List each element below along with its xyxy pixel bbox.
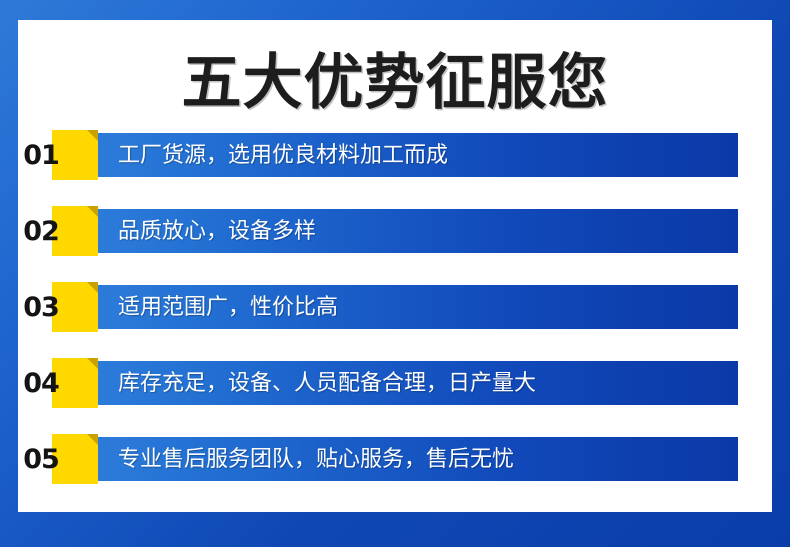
badge-number-label: 05 — [18, 434, 64, 484]
fold-corner-icon — [87, 130, 98, 141]
advantage-text: 品质放心，设备多样 — [118, 209, 316, 253]
badge-number-label: 04 — [18, 358, 64, 408]
advantages-poster: 五大优势征服您 01 工厂货源，选用优良材料加工而成 02 品质放心，设备多样 — [0, 0, 790, 547]
advantage-text: 专业售后服务团队，贴心服务，售后无忧 — [118, 437, 514, 481]
list-item: 01 工厂货源，选用优良材料加工而成 — [18, 130, 772, 180]
badge-number-label: 02 — [18, 206, 64, 256]
advantage-text: 适用范围广，性价比高 — [118, 285, 338, 329]
list-item: 03 适用范围广，性价比高 — [18, 282, 772, 332]
fold-corner-icon — [87, 358, 98, 369]
badge-number-label: 03 — [18, 282, 64, 332]
advantage-bar: 库存充足，设备、人员配备合理，日产量大 — [95, 361, 738, 405]
advantage-bar: 工厂货源，选用优良材料加工而成 — [95, 133, 738, 177]
advantage-bar: 专业售后服务团队，贴心服务，售后无忧 — [95, 437, 738, 481]
list-item: 02 品质放心，设备多样 — [18, 206, 772, 256]
list-item: 04 库存充足，设备、人员配备合理，日产量大 — [18, 358, 772, 408]
advantage-text: 库存充足，设备、人员配备合理，日产量大 — [118, 361, 536, 405]
fold-corner-icon — [87, 434, 98, 445]
fold-corner-icon — [87, 206, 98, 217]
fold-corner-icon — [87, 282, 98, 293]
list-item: 05 专业售后服务团队，贴心服务，售后无忧 — [18, 434, 772, 484]
badge-number-label: 01 — [18, 130, 64, 180]
advantage-bar: 品质放心，设备多样 — [95, 209, 738, 253]
advantage-text: 工厂货源，选用优良材料加工而成 — [118, 133, 448, 177]
page-title: 五大优势征服您 — [18, 48, 772, 118]
advantage-bar: 适用范围广，性价比高 — [95, 285, 738, 329]
inner-white-panel: 五大优势征服您 01 工厂货源，选用优良材料加工而成 02 品质放心，设备多样 — [18, 20, 772, 512]
advantage-list: 01 工厂货源，选用优良材料加工而成 02 品质放心，设备多样 03 — [18, 130, 772, 510]
